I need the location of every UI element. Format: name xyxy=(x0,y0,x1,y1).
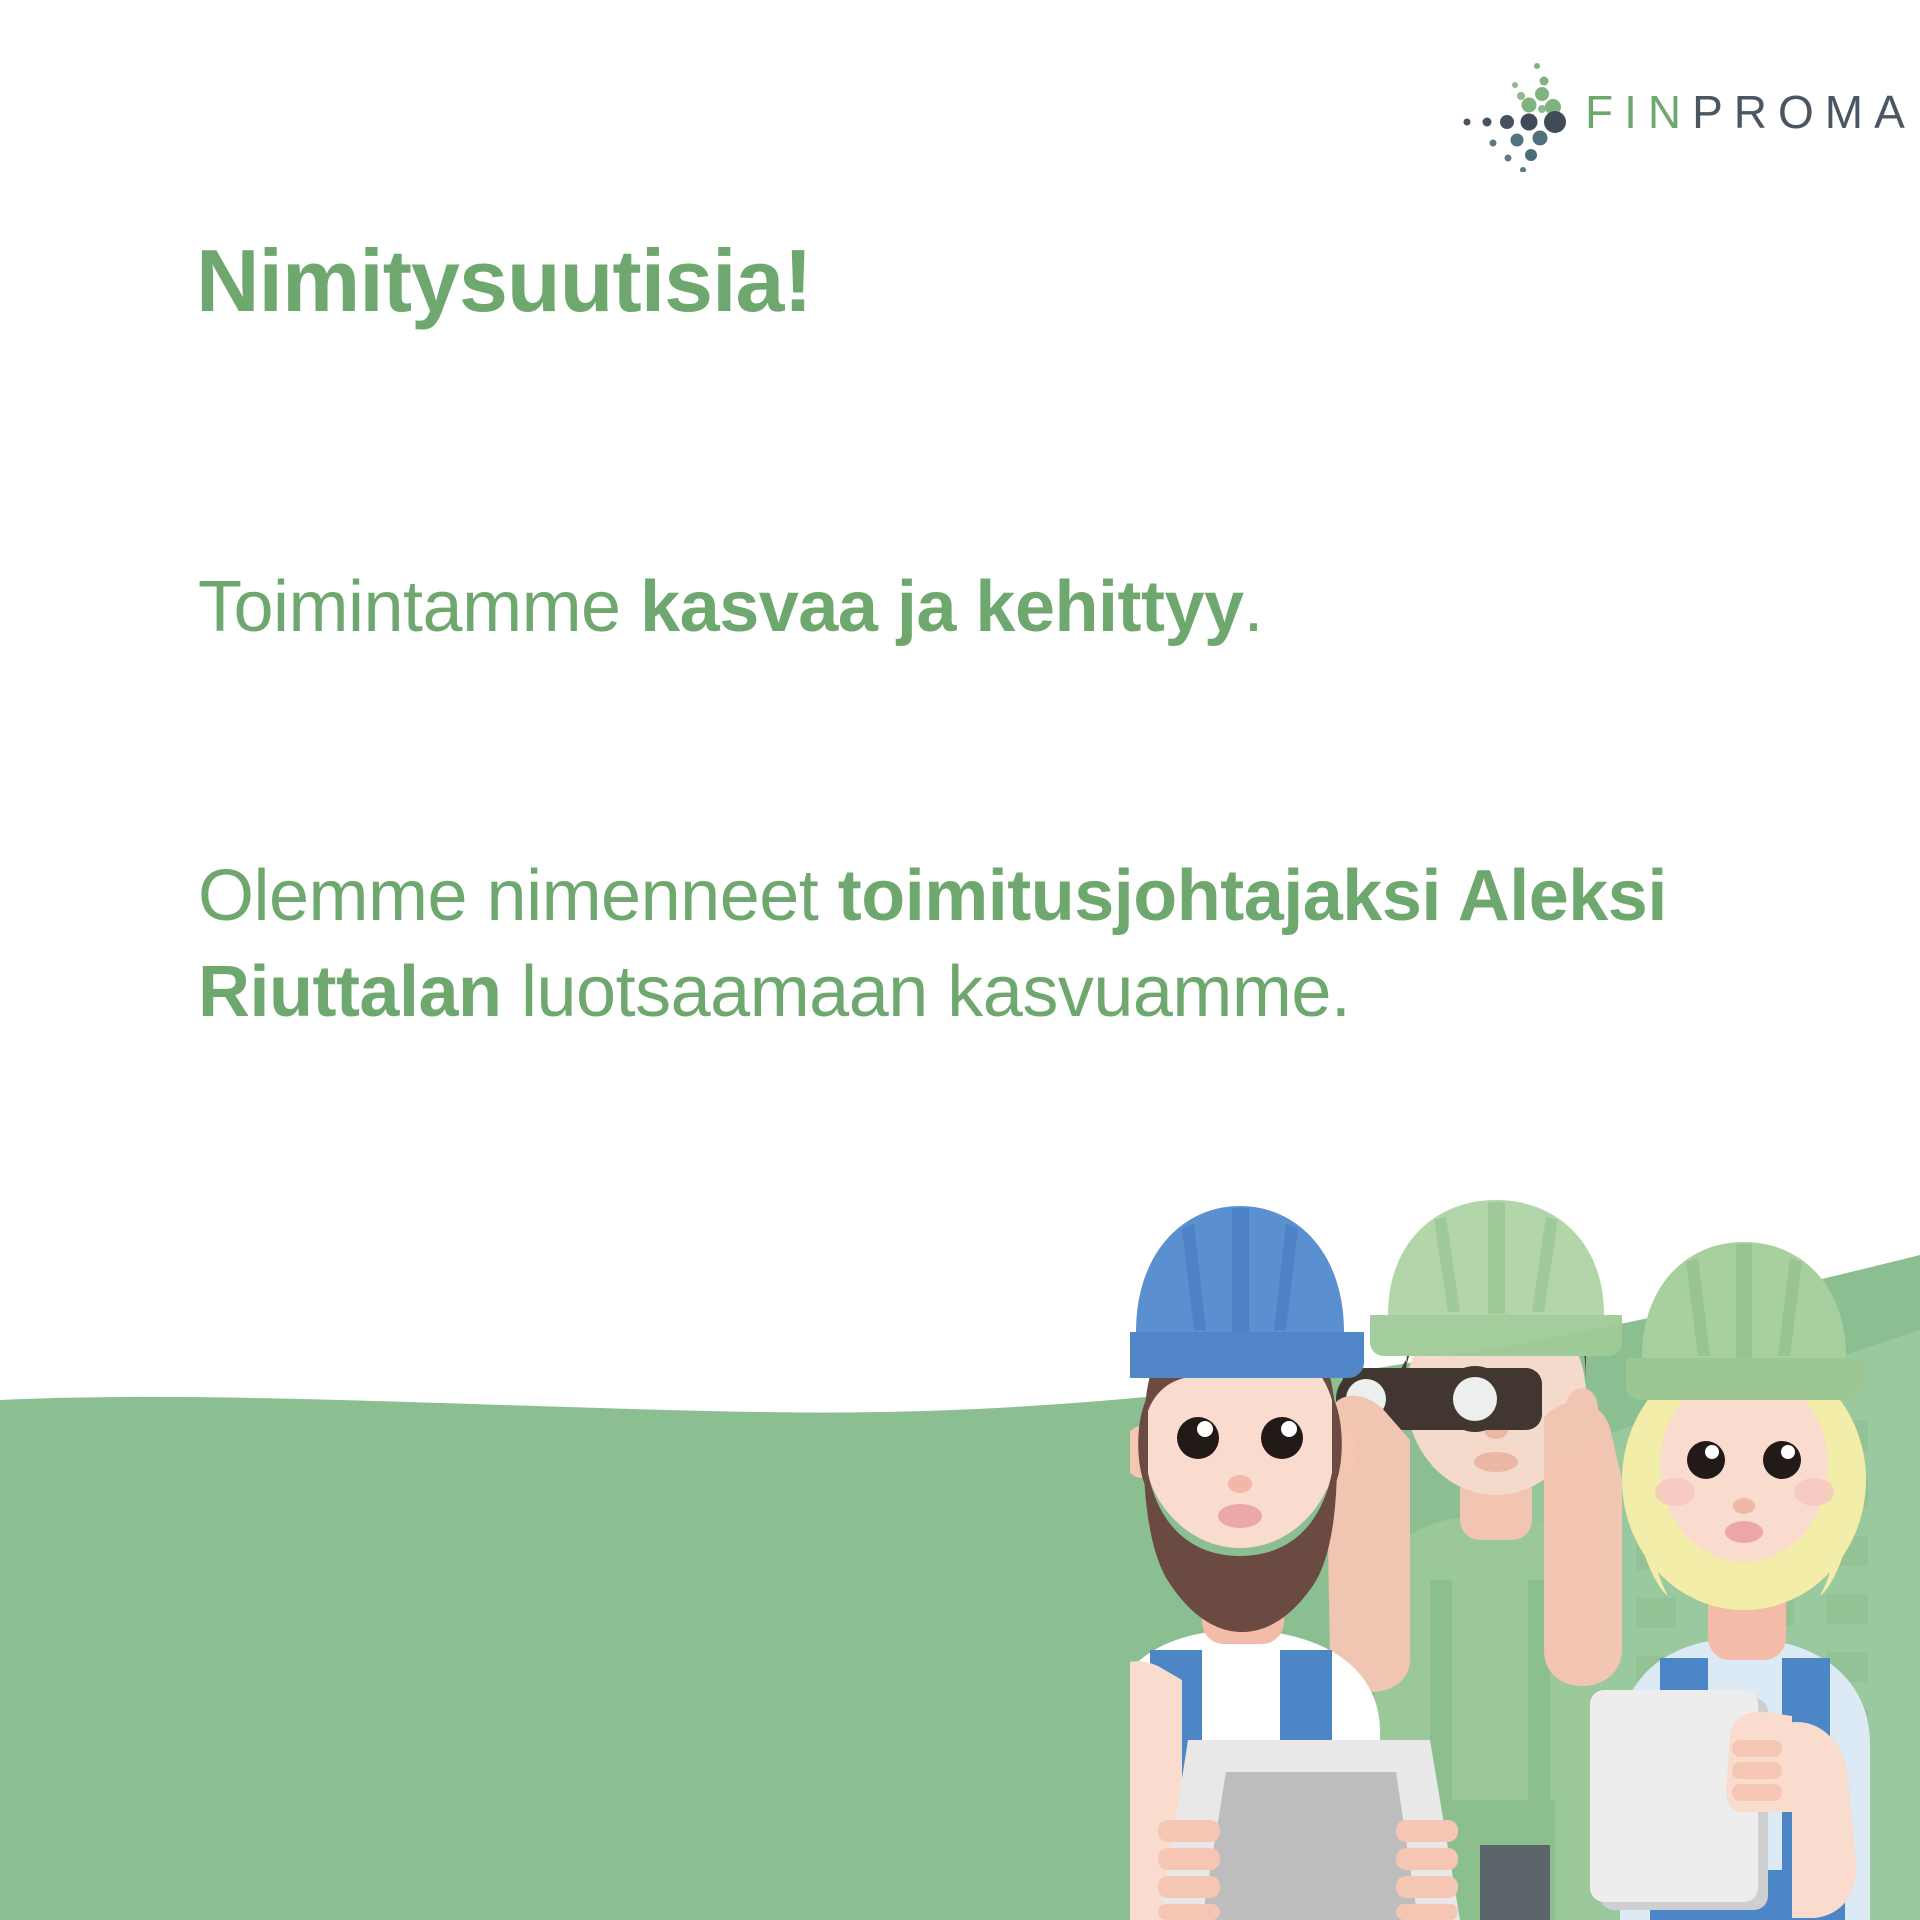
logo-word-fin: FIN xyxy=(1585,86,1692,138)
paragraph-appointment: Olemme nimenneet toimitusjohtajaksi Alek… xyxy=(198,848,1838,1041)
logo-word-proma: PROMA xyxy=(1692,86,1916,138)
finproma-logo[interactable]: FINPROMA xyxy=(1443,52,1898,172)
three-construction-workers-illustration xyxy=(1130,1180,1920,1920)
page-title: Nimitysuutisia! xyxy=(196,234,812,327)
para2-regular-1: Olemme nimenneet xyxy=(198,856,838,936)
dot-burst-logo-icon xyxy=(1443,52,1571,172)
para1-bold-1: kasvaa ja kehittyy xyxy=(640,567,1243,647)
worker-right xyxy=(1590,1242,1870,1920)
paragraph-growth: Toimintamme kasvaa ja kehittyy. xyxy=(198,559,1263,655)
poster-canvas: FINPROMA Nimitysuutisia! Toimintamme kas… xyxy=(0,0,1920,1920)
logo-wordmark: FINPROMA xyxy=(1585,89,1916,135)
para1-regular-1: Toimintamme xyxy=(198,567,640,647)
para1-regular-2: . xyxy=(1244,567,1264,647)
para2-regular-2: luotsaamaan kasvuamme. xyxy=(502,952,1351,1032)
